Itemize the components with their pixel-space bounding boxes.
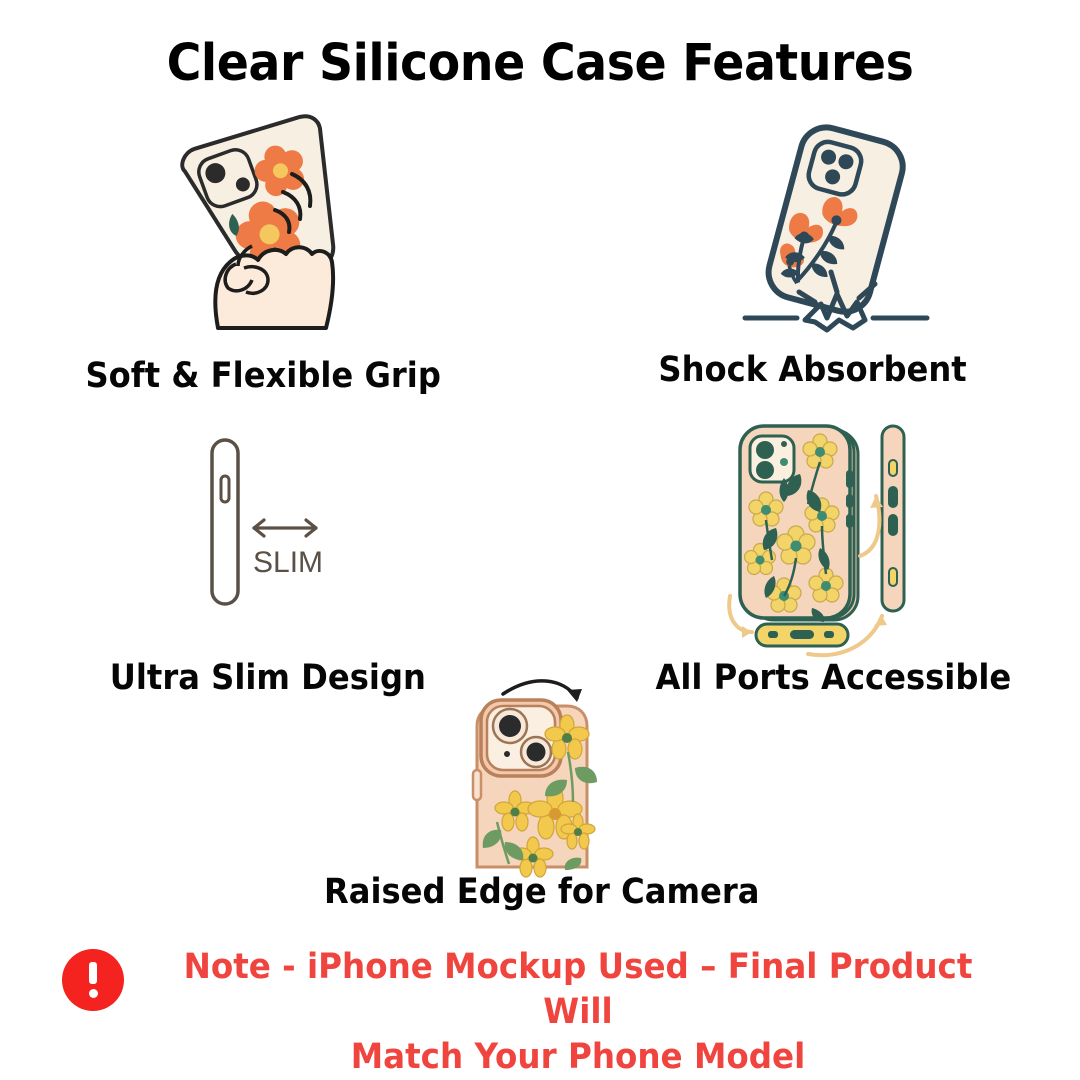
page-title: Clear Silicone Case Features bbox=[38, 34, 1042, 93]
illustration-shock-absorbent bbox=[735, 122, 935, 337]
feature-label-all-ports-accessible: All Ports Accessible bbox=[655, 658, 1011, 698]
illustration-ultra-slim-design: SLIM bbox=[190, 432, 350, 612]
illustration-raised-edge-for-camera bbox=[455, 672, 625, 867]
illustration-all-ports-accessible bbox=[722, 418, 937, 658]
feature-label-ultra-slim-design: Ultra Slim Design bbox=[110, 658, 426, 698]
note-line-1: Note - iPhone Mockup Used – Final Produc… bbox=[184, 947, 973, 1032]
illustration-soft-flexible-grip bbox=[140, 118, 350, 338]
infographic-page: Clear Silicone Case Features bbox=[0, 0, 1080, 1080]
feature-label-soft-flexible-grip: Soft & Flexible Grip bbox=[85, 356, 440, 396]
slim-badge-label: SLIM bbox=[253, 546, 323, 579]
feature-label-shock-absorbent: Shock Absorbent bbox=[658, 350, 966, 390]
note-block: Note - iPhone Mockup Used – Final Produc… bbox=[0, 945, 1080, 1079]
note-line-2: Match Your Phone Model bbox=[169, 1035, 987, 1080]
feature-label-raised-edge-camera: Raised Edge for Camera bbox=[324, 872, 760, 912]
note-text: Note - iPhone Mockup Used – Final Produc… bbox=[169, 945, 987, 1079]
exclamation-circle-icon bbox=[62, 949, 124, 1011]
